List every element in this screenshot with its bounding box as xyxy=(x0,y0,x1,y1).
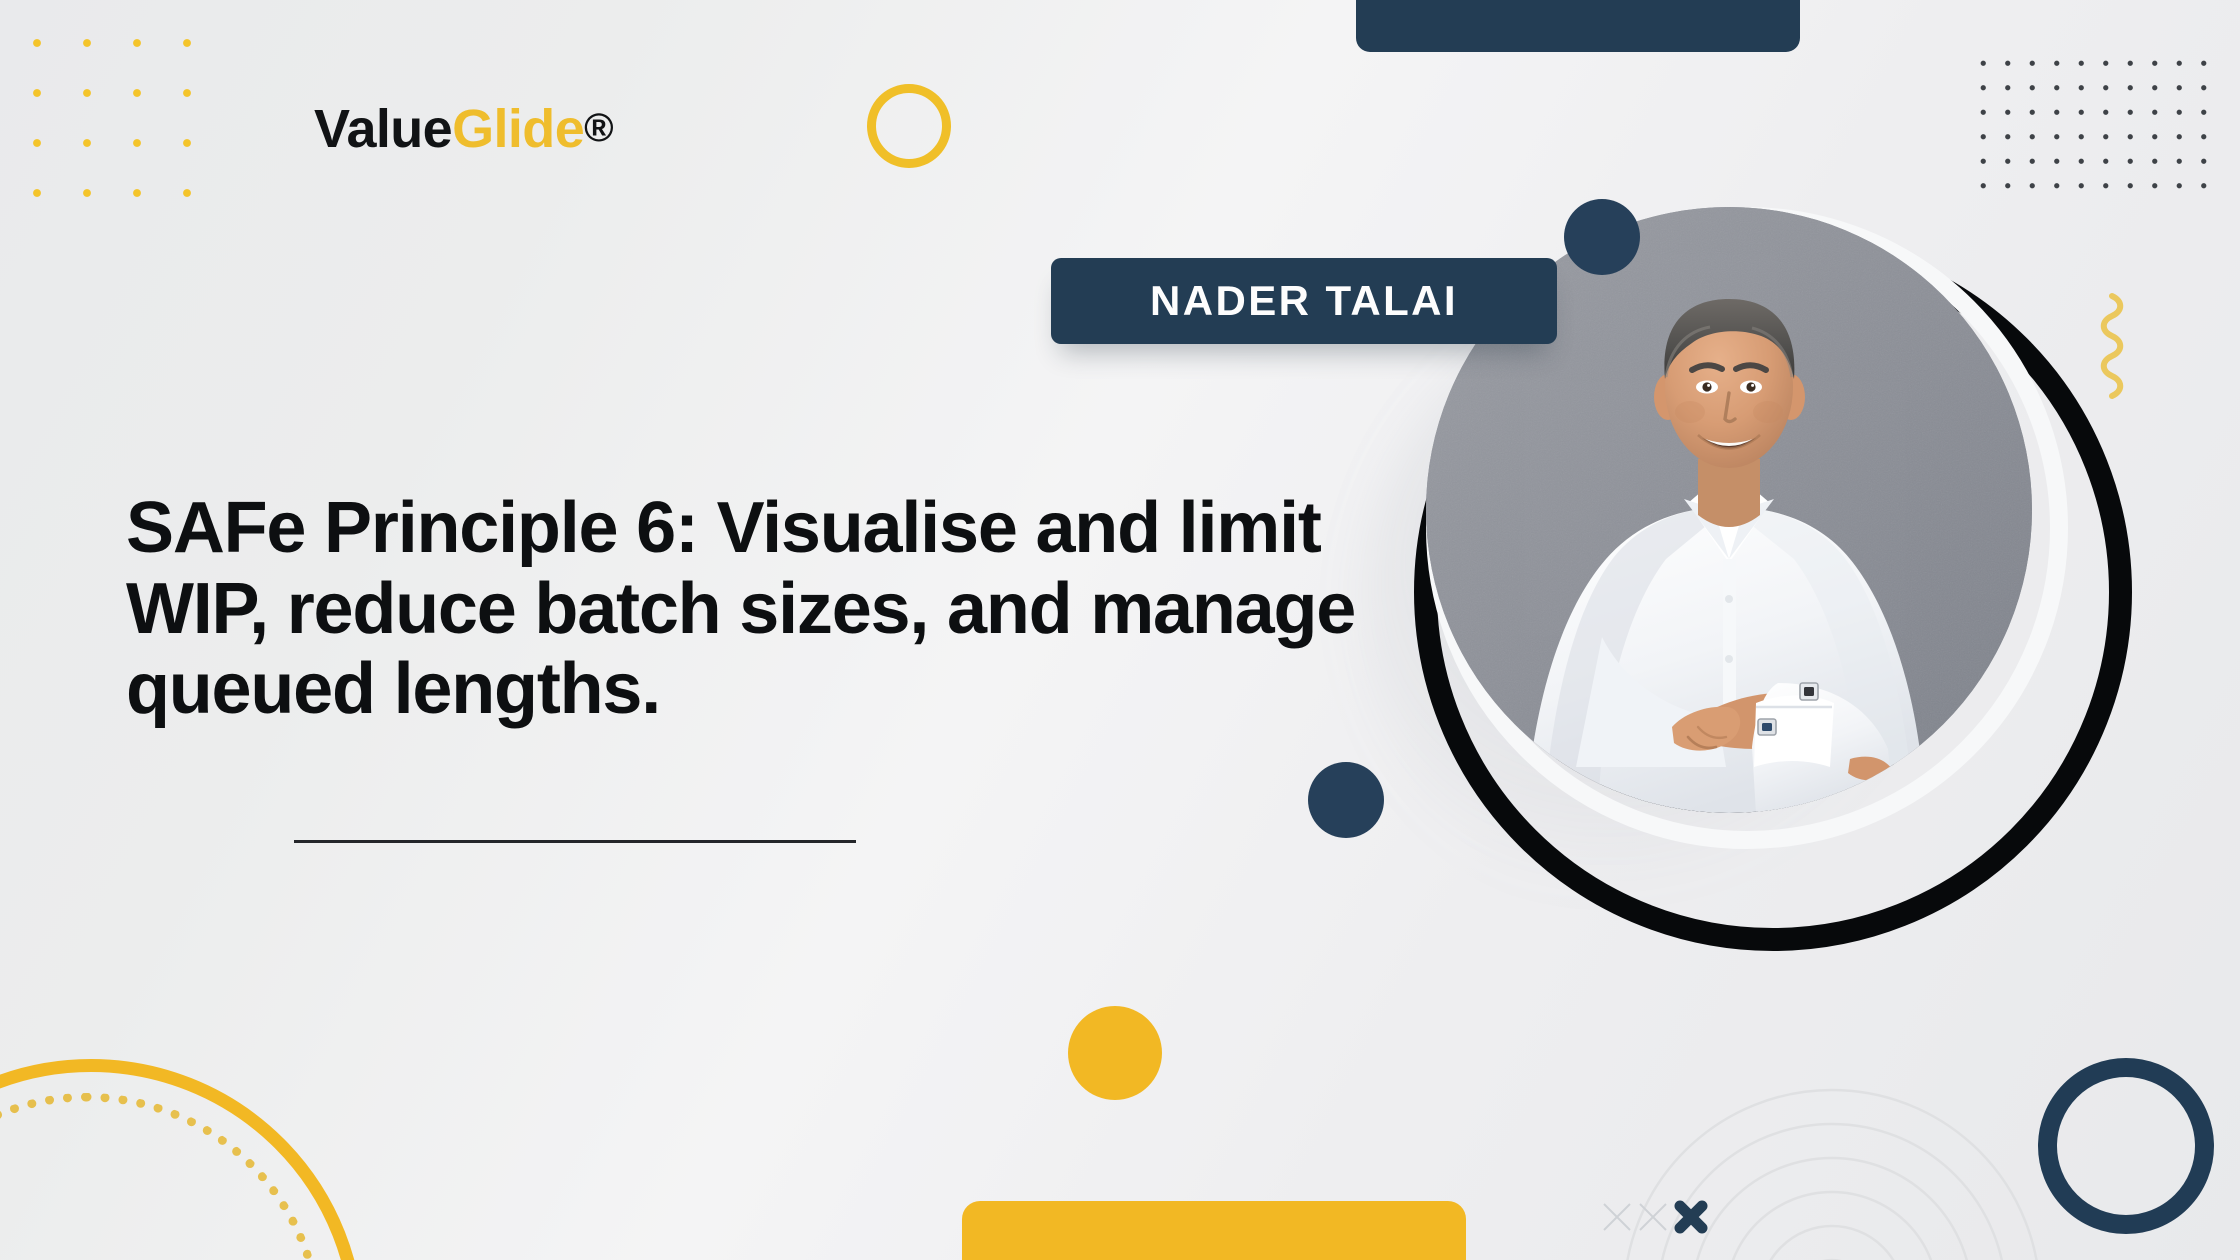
page-title: SAFe Principle 6: Visualise and limit WI… xyxy=(126,488,1416,730)
concentric-ripples-decoration xyxy=(1612,1078,2052,1260)
speaker-name-badge: NADER TALAI xyxy=(1051,258,1557,344)
dark-dot-grid-decoration xyxy=(1968,48,2213,200)
yellow-bar-bottom-decoration xyxy=(962,1201,1466,1260)
yellow-dot-grid-decoration xyxy=(8,14,198,204)
navy-bar-top-decoration xyxy=(1356,0,1800,52)
brand-logo-value: Value xyxy=(314,99,452,159)
speaker-name-label: NADER TALAI xyxy=(1150,277,1458,325)
yellow-ring-icon xyxy=(867,84,951,168)
navy-accent-dot-bottom xyxy=(1308,762,1384,838)
brand-logo[interactable]: ValueGlide® xyxy=(314,102,613,156)
yellow-circle-decoration xyxy=(1068,1006,1162,1100)
registered-mark-icon: ® xyxy=(584,106,613,150)
yellow-dotted-arc-decoration xyxy=(0,1093,324,1260)
slide-canvas: ValueGlide® SAFe Principle 6: Visualise … xyxy=(0,0,2240,1260)
headline-divider xyxy=(294,840,856,843)
yellow-arc-decoration xyxy=(0,1059,364,1260)
navy-accent-dot-top xyxy=(1564,199,1640,275)
navy-ring-icon xyxy=(2038,1058,2214,1234)
x-marks-decoration xyxy=(1596,1192,1766,1240)
brand-logo-glide: Glide xyxy=(452,99,584,159)
